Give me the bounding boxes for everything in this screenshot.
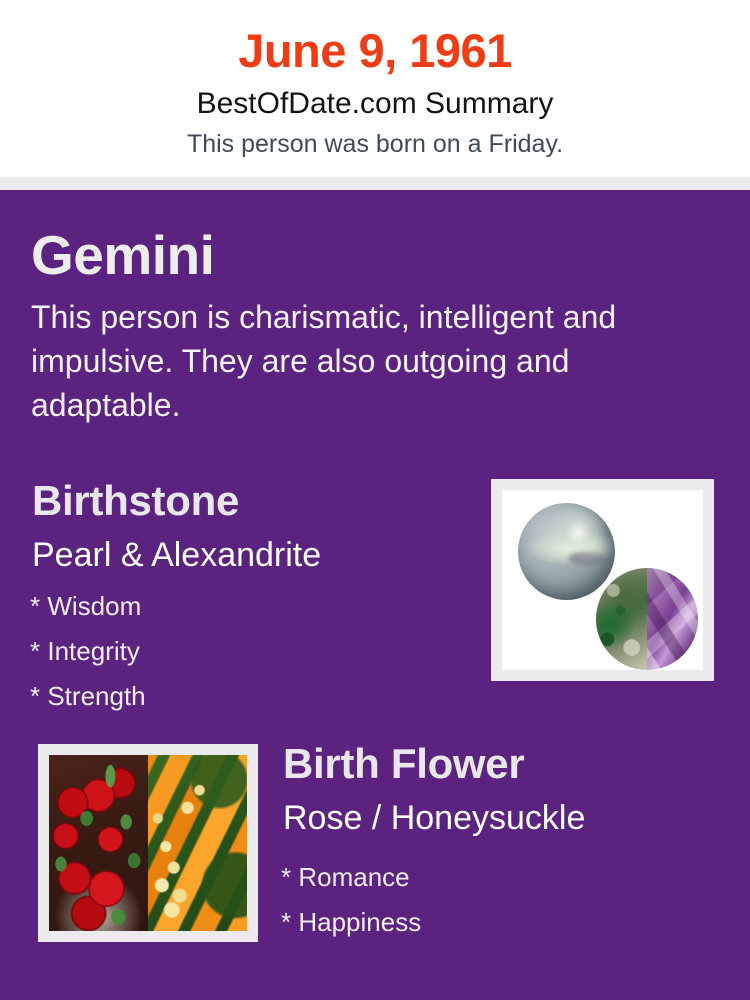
birth-flower-heading: Birth Flower (283, 737, 524, 791)
card-header: June 9, 1961 BestOfDate.com Summary This… (0, 0, 750, 177)
list-item: * Integrity (30, 629, 450, 674)
page-title-date: June 9, 1961 (0, 23, 750, 79)
zodiac-description: This person is charismatic, intelligent … (31, 295, 701, 427)
birthday-summary-card: June 9, 1961 BestOfDate.com Summary This… (0, 0, 750, 1000)
zodiac-sign-title: Gemini (31, 222, 214, 288)
day-of-week-text: This person was born on a Friday. (0, 129, 750, 159)
list-item: * Happiness (281, 900, 701, 945)
birth-flower-name: Rose / Honeysuckle (283, 796, 585, 840)
birthstone-image (502, 490, 703, 670)
list-item: * Wisdom (30, 584, 450, 629)
red-roses-icon (49, 755, 148, 931)
site-name-subtitle: BestOfDate.com Summary (0, 87, 750, 121)
alexandrite-icon (596, 568, 698, 670)
birthstone-image-frame (491, 479, 714, 681)
alexandrite-faceted-half (647, 568, 698, 670)
list-item: * Strength (30, 674, 450, 719)
list-item: * Romance (281, 855, 701, 900)
birthstone-trait-list: * Wisdom * Integrity * Strength (30, 584, 450, 719)
birth-flower-image (49, 755, 247, 931)
birthstone-name: Pearl & Alexandrite (32, 533, 321, 577)
birthstone-heading: Birthstone (32, 475, 239, 527)
honeysuckle-icon (148, 755, 247, 931)
birth-flower-trait-list: * Romance * Happiness (281, 855, 701, 945)
birth-flower-image-frame (38, 744, 258, 942)
header-divider (0, 177, 750, 190)
alexandrite-rough-half (596, 568, 647, 670)
